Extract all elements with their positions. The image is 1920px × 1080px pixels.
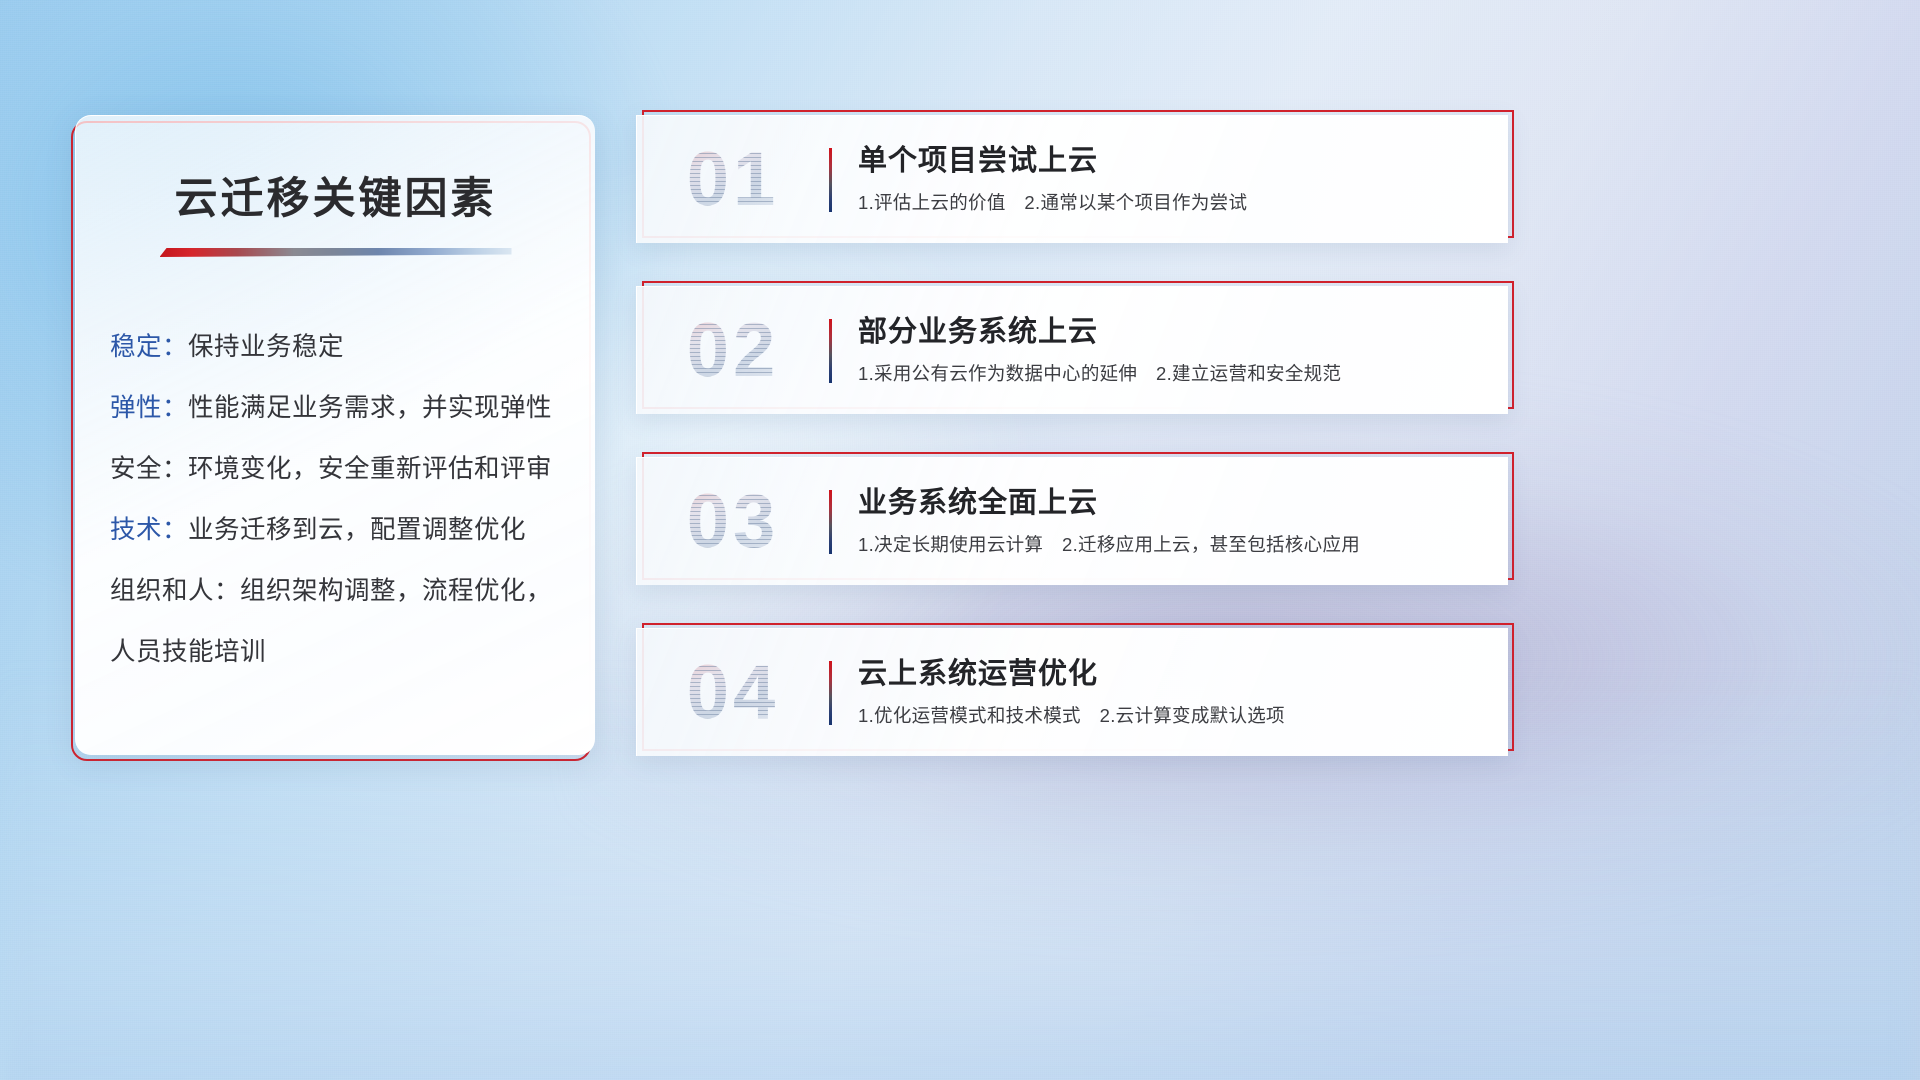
card-body: 云上系统运营优化1.优化运营模式和技术模式 2.云计算变成默认选项 <box>858 657 1508 727</box>
slide-stage: 云迁移关键因素 稳定：保持业务稳定弹性：性能满足业务需求，并实现弹性安全：环境变… <box>0 0 1920 1080</box>
card-title: 单个项目尝试上云 <box>858 144 1482 178</box>
stage-number-glyph: 02 <box>687 313 780 389</box>
page-title: 云迁移关键因素 <box>76 164 595 226</box>
card-accent-bar <box>829 148 832 212</box>
card-description: 1.决定长期使用云计算 2.迁移应用上云，甚至包括核心应用 <box>858 533 1482 557</box>
key-factors-list: 稳定：保持业务稳定弹性：性能满足业务需求，并实现弹性安全：环境变化，安全重新评估… <box>76 317 595 683</box>
card-accent-bar <box>829 490 832 554</box>
key-factors-panel: 云迁移关键因素 稳定：保持业务稳定弹性：性能满足业务需求，并实现弹性安全：环境变… <box>75 115 595 755</box>
migration-stage-card[interactable]: 04云上系统运营优化1.优化运营模式和技术模式 2.云计算变成默认选项 <box>636 628 1508 756</box>
title-gradient-rule <box>160 248 512 257</box>
migration-stage-card[interactable]: 01单个项目尝试上云1.评估上云的价值 2.通常以某个项目作为尝试 <box>636 115 1508 243</box>
stage-number-glyph: 01 <box>687 142 780 218</box>
card-surface[interactable]: 02部分业务系统上云1.采用公有云作为数据中心的延伸 2.建立运营和安全规范 <box>636 286 1508 414</box>
card-surface[interactable]: 01单个项目尝试上云1.评估上云的价值 2.通常以某个项目作为尝试 <box>636 115 1508 243</box>
card-accent-bar <box>829 661 832 725</box>
key-factor-label: 稳定： <box>110 333 188 361</box>
card-body: 部分业务系统上云1.采用公有云作为数据中心的延伸 2.建立运营和安全规范 <box>858 315 1508 385</box>
card-body: 业务系统全面上云1.决定长期使用云计算 2.迁移应用上云，甚至包括核心应用 <box>858 486 1508 556</box>
migration-stage-card[interactable]: 02部分业务系统上云1.采用公有云作为数据中心的延伸 2.建立运营和安全规范 <box>636 286 1508 414</box>
stage-number-glyph: 04 <box>687 655 780 731</box>
key-factor-text: 性能满足业务需求，并实现弹性 <box>188 394 552 422</box>
card-number-slot: 01 <box>637 116 829 243</box>
key-factor-text: 环境变化，安全重新评估和评审 <box>188 455 552 483</box>
card-accent-bar <box>829 319 832 383</box>
card-surface[interactable]: 03业务系统全面上云1.决定长期使用云计算 2.迁移应用上云，甚至包括核心应用 <box>636 457 1508 585</box>
card-number-slot: 02 <box>637 287 829 414</box>
migration-stage-card[interactable]: 03业务系统全面上云1.决定长期使用云计算 2.迁移应用上云，甚至包括核心应用 <box>636 457 1508 585</box>
card-description: 1.采用公有云作为数据中心的延伸 2.建立运营和安全规范 <box>858 362 1482 386</box>
key-factor-item: 人员技能培训 <box>110 622 561 683</box>
card-surface[interactable]: 04云上系统运营优化1.优化运营模式和技术模式 2.云计算变成默认选项 <box>636 628 1508 756</box>
card-body: 单个项目尝试上云1.评估上云的价值 2.通常以某个项目作为尝试 <box>858 144 1508 214</box>
key-factor-label: 弹性： <box>110 394 188 422</box>
key-factors-panel-surface: 云迁移关键因素 稳定：保持业务稳定弹性：性能满足业务需求，并实现弹性安全：环境变… <box>75 115 595 755</box>
key-factor-label: 技术： <box>110 516 188 544</box>
key-factor-item: 弹性：性能满足业务需求，并实现弹性 <box>110 378 561 439</box>
card-number-slot: 03 <box>637 458 829 585</box>
key-factor-text: 人员技能培训 <box>110 638 266 666</box>
key-factor-text: 保持业务稳定 <box>188 333 344 361</box>
key-factor-item: 组织和人：组织架构调整，流程优化， <box>110 561 561 622</box>
key-factor-text: 组织架构调整，流程优化， <box>240 577 552 605</box>
card-title: 云上系统运营优化 <box>858 657 1482 691</box>
key-factor-label: 安全： <box>110 455 188 483</box>
key-factor-item: 技术：业务迁移到云，配置调整优化 <box>110 500 561 561</box>
key-factor-label: 组织和人： <box>110 577 240 605</box>
card-title: 业务系统全面上云 <box>858 486 1482 520</box>
key-factor-item: 安全：环境变化，安全重新评估和评审 <box>110 439 561 500</box>
card-description: 1.评估上云的价值 2.通常以某个项目作为尝试 <box>858 191 1482 215</box>
card-number-slot: 04 <box>637 629 829 756</box>
key-factor-item: 稳定：保持业务稳定 <box>110 317 561 378</box>
migration-stage-card-list: 01单个项目尝试上云1.评估上云的价值 2.通常以某个项目作为尝试02部分业务系… <box>636 115 1508 756</box>
card-title: 部分业务系统上云 <box>858 315 1482 349</box>
key-factor-text: 业务迁移到云，配置调整优化 <box>188 516 526 544</box>
card-description: 1.优化运营模式和技术模式 2.云计算变成默认选项 <box>858 704 1482 728</box>
stage-number-glyph: 03 <box>687 484 780 560</box>
